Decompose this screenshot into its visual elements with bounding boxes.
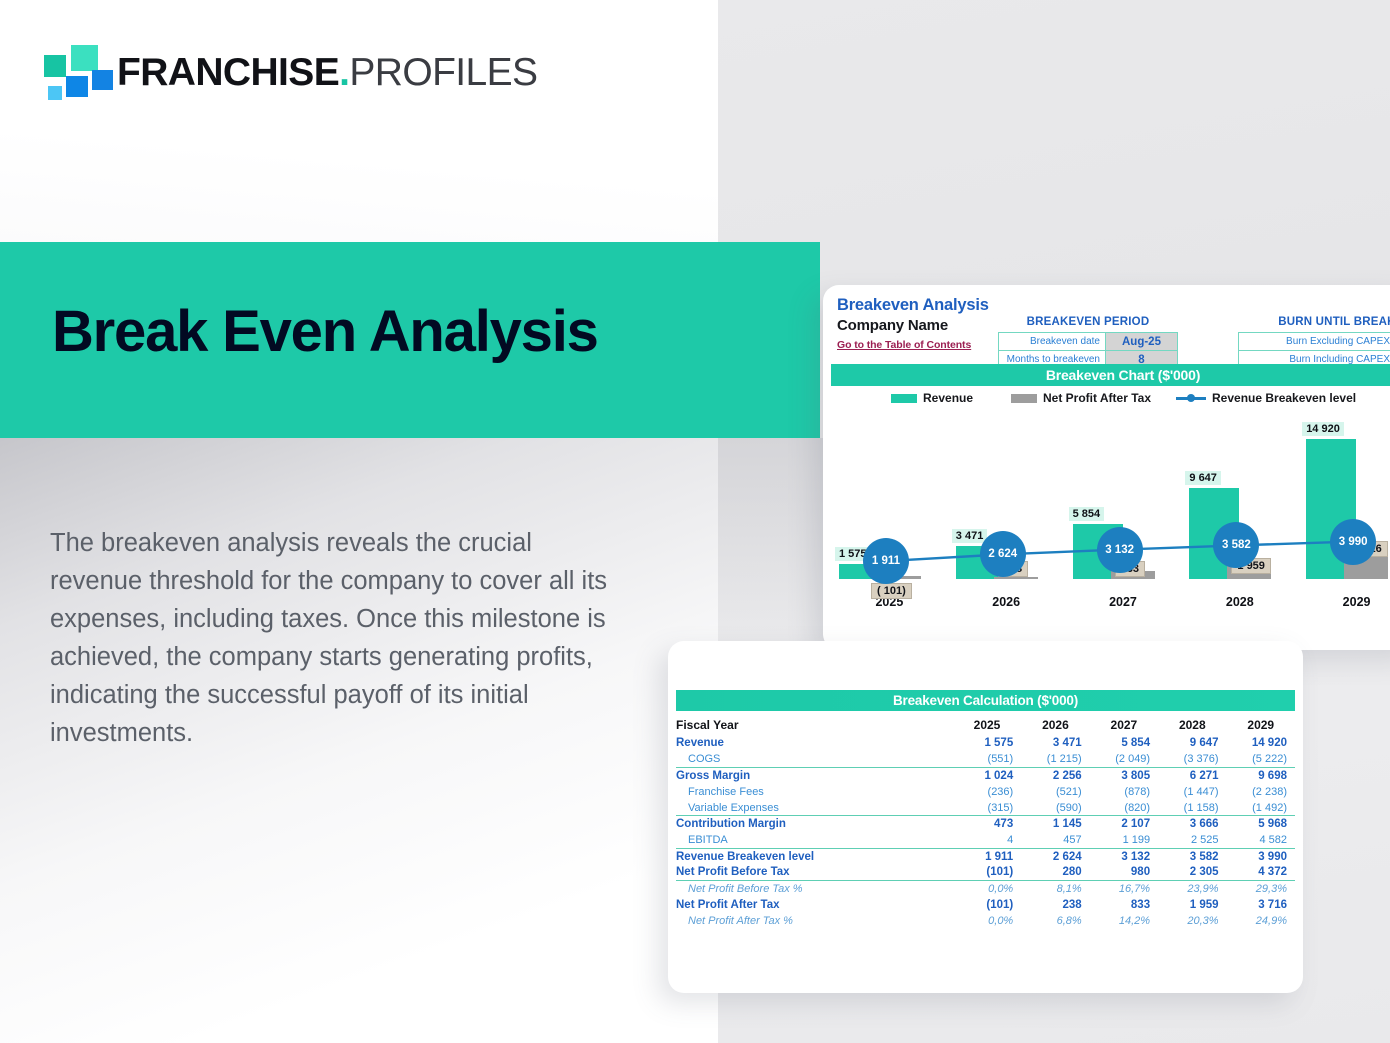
table-row: Variable Expenses(315)(590)(820)(1 158)(…	[676, 800, 1295, 816]
logo-square-lightblue	[48, 86, 62, 100]
table-cell-value: (2 238)	[1227, 784, 1295, 800]
logo-square-teal-dark	[44, 55, 66, 77]
table-cell-value: (551)	[953, 751, 1021, 767]
legend-label: Revenue Breakeven level	[1212, 391, 1356, 405]
brand-name-bold: FRANCHISE	[117, 51, 339, 94]
legend-swatch-icon	[1011, 394, 1037, 403]
table-cell-value: 4 372	[1227, 865, 1295, 881]
table-cell-value: 1 575	[953, 735, 1021, 751]
breakeven-level-bubble[interactable]: 1 911	[863, 538, 909, 584]
table-row: Net Profit Before Tax %0,0%8,1%16,7%23,9…	[676, 881, 1295, 897]
table-cell-value: 1 145	[1021, 816, 1089, 832]
legend-item-revenue-breakeven-level[interactable]: Revenue Breakeven level	[1176, 391, 1356, 405]
table-cell-value: 0,0%	[953, 881, 1021, 897]
table-cell-value: 9 647	[1158, 735, 1226, 751]
table-cell-value: (315)	[953, 800, 1021, 816]
table-cell-value: 20,3%	[1158, 913, 1226, 929]
table-row: Gross Margin1 0242 2563 8056 2719 698	[676, 767, 1295, 783]
table-cell-value: 457	[1021, 832, 1089, 848]
table-row-label: EBITDA	[676, 832, 953, 848]
intro-paragraph: The breakeven analysis reveals the cruci…	[50, 524, 630, 752]
slide-canvas: FRANCHISE.PROFILES Break Even Analysis T…	[0, 0, 1390, 1043]
table-cell-value: 3 990	[1227, 848, 1295, 864]
legend-swatch-icon	[891, 394, 917, 403]
breakeven-date-label: Breakeven date	[999, 333, 1106, 351]
table-cell-value: 3 716	[1227, 897, 1295, 913]
brand-name-thin: PROFILES	[349, 51, 537, 94]
table-cell-value: (3 376)	[1158, 751, 1226, 767]
table-cell-value: 24,9%	[1227, 913, 1295, 929]
breakeven-period-heading: BREAKEVEN PERIOD	[998, 316, 1178, 328]
chart-legend: Revenue Net Profit After Tax Revenue Bre…	[831, 390, 1390, 410]
table-cell-value: 23,9%	[1158, 881, 1226, 897]
table-cell-value: (1 447)	[1158, 784, 1226, 800]
table-row-label: Net Profit After Tax %	[676, 913, 953, 929]
table-cell-value: (236)	[953, 784, 1021, 800]
table-cell-value: 473	[953, 816, 1021, 832]
chart-card-title: Breakeven Analysis	[837, 296, 989, 315]
table-cell-value: 3 132	[1090, 848, 1158, 864]
table-cell-value: 2 305	[1158, 865, 1226, 881]
table-cell-value: (5 222)	[1227, 751, 1295, 767]
table-cell-value: 2 624	[1021, 848, 1089, 864]
bar-net-profit-after-tax[interactable]	[994, 577, 1038, 579]
table-row-label: Franchise Fees	[676, 784, 953, 800]
table-row-label: Revenue	[676, 735, 953, 751]
brand-logo[interactable]: FRANCHISE.PROFILES	[44, 44, 544, 106]
table-cell-value: 16,7%	[1090, 881, 1158, 897]
table-header-fiscal-year: Fiscal Year	[676, 715, 953, 735]
burn-until-breakeven-block: BURN UNTIL BREAKEVEN Burn Excluding CAPE…	[1238, 316, 1390, 369]
squares-mosaic-icon	[44, 44, 108, 102]
burn-excluding-capex-label: Burn Excluding CAPEX	[1239, 333, 1390, 351]
logo-square-mint	[71, 45, 98, 71]
table-cell-value: 980	[1090, 865, 1158, 881]
table-row: COGS(551)(1 215)(2 049)(3 376)(5 222)	[676, 751, 1295, 767]
table-cell-value: 1 024	[953, 767, 1021, 783]
table-row: Revenue Breakeven level1 9112 6243 1323 …	[676, 848, 1295, 864]
table-row-label: Net Profit Before Tax	[676, 865, 953, 881]
table-cell-value: 4 582	[1227, 832, 1295, 848]
table-row: Revenue1 5753 4715 8549 64714 920	[676, 735, 1295, 751]
table-row: Contribution Margin4731 1452 1073 6665 9…	[676, 816, 1295, 832]
bar-label-revenue: 14 920	[1302, 422, 1344, 436]
table-row-label: Contribution Margin	[676, 816, 953, 832]
table-cell-value: 1 199	[1090, 832, 1158, 848]
table-cell-value: 238	[1021, 897, 1089, 913]
page-title: Break Even Analysis	[52, 302, 598, 363]
table-cell-value: 3 471	[1021, 735, 1089, 751]
legend-item-net-profit-after-tax[interactable]: Net Profit After Tax	[1011, 391, 1151, 405]
table-head: Fiscal Year 20252026202720282029	[676, 715, 1295, 735]
background-shade-top-left	[0, 0, 718, 242]
brand-name-dot: .	[339, 51, 349, 94]
table-cell-value: 5 968	[1227, 816, 1295, 832]
bar-label-revenue: 5 854	[1069, 507, 1105, 521]
table-cell-value: 4	[953, 832, 1021, 848]
table-cell-value: 29,3%	[1227, 881, 1295, 897]
table-row: EBITDA44571 1992 5254 582	[676, 832, 1295, 848]
chart-x-axis-label: 2026	[948, 595, 1065, 609]
bar-label-net-profit-after-tax: ( 101)	[871, 583, 912, 599]
table-cell-value: 0,0%	[953, 913, 1021, 929]
breakeven-period-block: BREAKEVEN PERIOD Breakeven date Aug-25 M…	[998, 316, 1178, 369]
table-cell-value: (1 215)	[1021, 751, 1089, 767]
table-cell-value: (2 049)	[1090, 751, 1158, 767]
table-row: Net Profit Before Tax(101)2809802 3054 3…	[676, 865, 1295, 881]
logo-square-blue	[66, 76, 88, 97]
table-cell-value: 3 805	[1090, 767, 1158, 783]
table-cell-value: 3 666	[1158, 816, 1226, 832]
table-cell-value: 3 582	[1158, 848, 1226, 864]
legend-item-revenue[interactable]: Revenue	[891, 391, 973, 405]
breakeven-level-bubble[interactable]: 2 624	[980, 531, 1026, 577]
table-cell-value: 2 525	[1158, 832, 1226, 848]
table-cell-value: 2 256	[1021, 767, 1089, 783]
table-cell-value: (521)	[1021, 784, 1089, 800]
table-header-year: 2027	[1090, 715, 1158, 735]
table-row: Net Profit After Tax(101)2388331 9593 71…	[676, 897, 1295, 913]
table-cell-value: 6 271	[1158, 767, 1226, 783]
table-cell-value: 5 854	[1090, 735, 1158, 751]
breakeven-date-value: Aug-25	[1106, 333, 1178, 351]
bar-label-revenue: 9 647	[1185, 471, 1221, 485]
table-cell-value: (878)	[1090, 784, 1158, 800]
table-row-label: Variable Expenses	[676, 800, 953, 816]
table-cell-value: 9 698	[1227, 767, 1295, 783]
table-header-year: 2025	[953, 715, 1021, 735]
table-cell-value: 833	[1090, 897, 1158, 913]
table-row: Burn Excluding CAPEX	[1239, 333, 1390, 351]
burn-until-breakeven-heading: BURN UNTIL BREAKEVEN	[1238, 316, 1390, 328]
breakeven-level-bubble[interactable]: 3 990	[1330, 519, 1376, 565]
chart-plot-area: 20251 575( 101)1 91120263 4712382 624202…	[831, 413, 1390, 613]
legend-line-point-icon	[1176, 393, 1206, 403]
table-row-label: COGS	[676, 751, 953, 767]
table-row: Breakeven date Aug-25	[999, 333, 1178, 351]
breakeven-calculation-table: Fiscal Year 20252026202720282029 Revenue…	[676, 715, 1295, 929]
chart-x-axis-label: 2028	[1181, 595, 1298, 609]
table-cell-value: 280	[1021, 865, 1089, 881]
table-cell-value: 2 107	[1090, 816, 1158, 832]
table-cell-value: 6,8%	[1021, 913, 1089, 929]
table-row-label: Revenue Breakeven level	[676, 848, 953, 864]
brand-wordmark: FRANCHISE.PROFILES	[117, 44, 537, 102]
table-cell-value: (101)	[953, 865, 1021, 881]
legend-label: Revenue	[923, 391, 973, 405]
table-header-row: Fiscal Year 20252026202720282029	[676, 715, 1295, 735]
bar-label-revenue: 3 471	[952, 529, 988, 543]
chart-x-axis-label: 2029	[1298, 595, 1390, 609]
table-header-year: 2029	[1227, 715, 1295, 735]
table-cell-value: (590)	[1021, 800, 1089, 816]
table-header-year: 2026	[1021, 715, 1089, 735]
breakeven-level-bubble[interactable]: 3 132	[1097, 527, 1143, 573]
legend-label: Net Profit After Tax	[1043, 391, 1151, 405]
chart-card-company: Company Name	[837, 317, 948, 334]
table-of-contents-link[interactable]: Go to the Table of Contents	[837, 339, 971, 351]
table-row: Franchise Fees(236)(521)(878)(1 447)(2 2…	[676, 784, 1295, 800]
table-cell-value: (1 492)	[1227, 800, 1295, 816]
breakeven-chart-card: Breakeven Analysis Company Name Go to th…	[823, 285, 1390, 650]
chart-x-axis-label: 2027	[1065, 595, 1182, 609]
table-cell-value: (820)	[1090, 800, 1158, 816]
table-row-label: Net Profit After Tax	[676, 897, 953, 913]
table-cell-value: 14,2%	[1090, 913, 1158, 929]
table-row-label: Net Profit Before Tax %	[676, 881, 953, 897]
table-row-label: Gross Margin	[676, 767, 953, 783]
table-cell-value: (101)	[953, 897, 1021, 913]
table-cell-value: 1 959	[1158, 897, 1226, 913]
logo-square-blue-small	[92, 70, 113, 90]
table-cell-value: (1 158)	[1158, 800, 1226, 816]
breakeven-calculation-card: Breakeven Calculation ($'000) Fiscal Yea…	[668, 641, 1303, 993]
chart-banner: Breakeven Chart ($'000)	[831, 364, 1390, 386]
table-row: Net Profit After Tax %0,0%6,8%14,2%20,3%…	[676, 913, 1295, 929]
table-body: Revenue1 5753 4715 8549 64714 920COGS(55…	[676, 735, 1295, 929]
table-cell-value: 8,1%	[1021, 881, 1089, 897]
table-cell-value: 1 911	[953, 848, 1021, 864]
table-banner: Breakeven Calculation ($'000)	[676, 690, 1295, 711]
table-header-year: 2028	[1158, 715, 1226, 735]
table-cell-value: 14 920	[1227, 735, 1295, 751]
